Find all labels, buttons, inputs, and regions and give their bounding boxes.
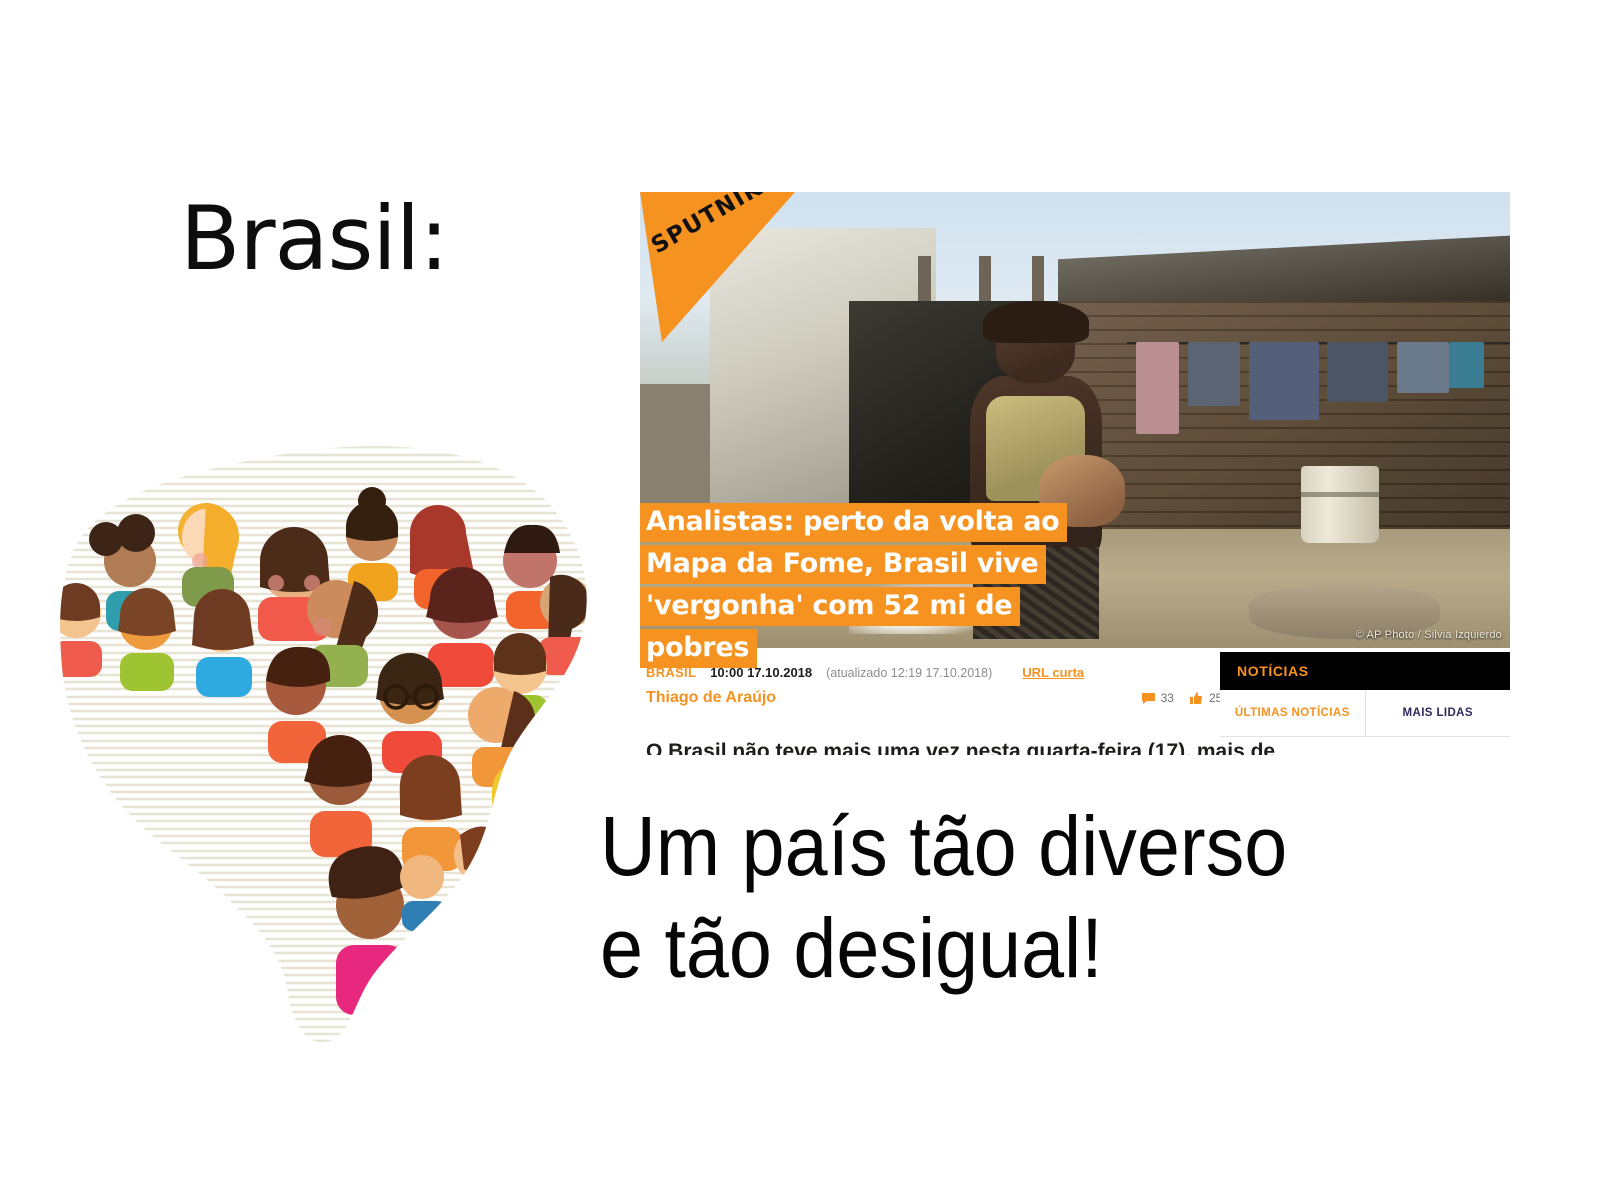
sputnik-logo[interactable]: SPUTNIK [640, 192, 800, 347]
headline-line-1: Analistas: perto da volta ao [640, 503, 1067, 542]
thumbs-up-icon [1190, 691, 1204, 705]
slide-caption: Um país tão diverso e tão desigual! [600, 795, 1483, 1000]
article-headline: Analistas: perto da volta ao Mapa da Fom… [640, 503, 1160, 671]
page-title: Brasil: [180, 195, 448, 283]
caption-line-1: Um país tão diverso [600, 795, 1483, 897]
headline-line-2: Mapa da Fome, Brasil vive [640, 545, 1046, 584]
comment-stat[interactable]: 33 [1141, 691, 1174, 705]
presentation-slide: Brasil: [0, 0, 1600, 1200]
white-bucket [1301, 466, 1379, 544]
cloth-1 [1136, 342, 1180, 433]
photo-credit: © AP Photo / Silvia Izquierdo [1356, 629, 1502, 641]
brazil-map-illustration [10, 385, 640, 1045]
tab-mais-lidas[interactable]: MAIS LIDAS [1366, 690, 1511, 736]
comment-icon [1141, 692, 1156, 705]
like-stat[interactable]: 25 [1190, 691, 1222, 705]
cloth-6 [1449, 342, 1484, 388]
article-body-excerpt: O Brasil não teve mais uma vez nesta qua… [646, 740, 1286, 755]
caption-line-2: e tão desigual! [600, 897, 1483, 999]
sidebar-tabs: ÚLTIMAS NOTÍCIAS MAIS LIDAS [1220, 690, 1510, 737]
headline-line-4: pobres [640, 629, 757, 668]
news-sidebar: NOTÍCIAS ÚLTIMAS NOTÍCIAS MAIS LIDAS [1220, 652, 1510, 755]
author-name[interactable]: Thiago de Araújo [646, 689, 776, 707]
news-article-screenshot[interactable]: © AP Photo / Silvia Izquierdo SPUTNIK An… [618, 187, 1510, 755]
comment-count: 33 [1161, 691, 1174, 705]
cloth-3 [1249, 342, 1319, 420]
headline-line-3: 'vergonha' com 52 mi de [640, 587, 1020, 626]
sidebar-title: NOTÍCIAS [1237, 663, 1309, 679]
tab-ultimas-noticias[interactable]: ÚLTIMAS NOTÍCIAS [1220, 690, 1366, 736]
cloth-5 [1397, 342, 1449, 392]
cloth-4 [1327, 342, 1388, 401]
sidebar-header: NOTÍCIAS [1220, 652, 1510, 690]
cloth-2 [1188, 342, 1240, 406]
